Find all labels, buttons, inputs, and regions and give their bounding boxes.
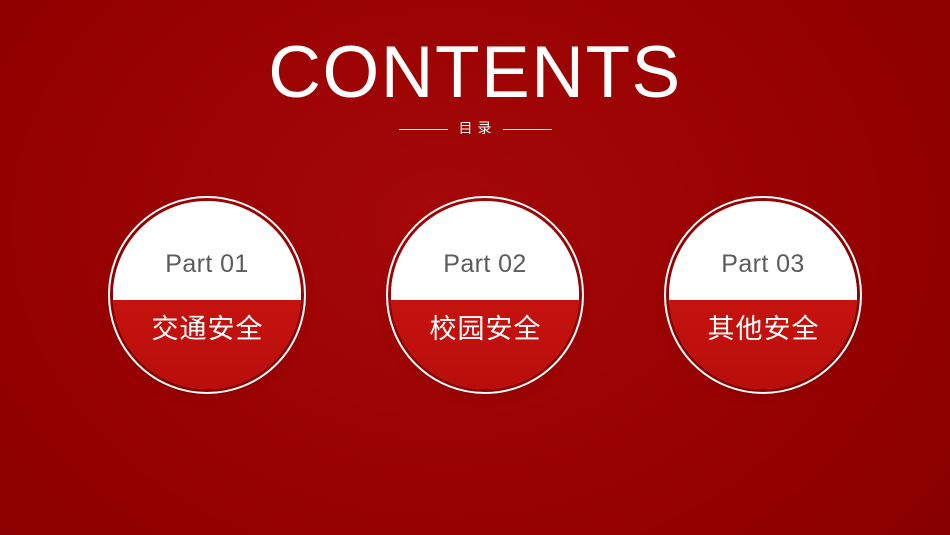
circle-disc: Part 02 校园安全 <box>391 201 579 389</box>
section-circle-row: Part 01 交通安全 Part 02 校园安全 Part 03 其他安全 <box>0 196 950 406</box>
section-part-label: Part 03 <box>669 249 857 279</box>
section-circle-2[interactable]: Part 02 校园安全 <box>386 196 584 394</box>
subtitle-group: 目录 <box>0 121 950 137</box>
section-title-label: 校园安全 <box>391 313 579 347</box>
subtitle-rule-right-icon <box>503 129 552 130</box>
circle-disc: Part 03 其他安全 <box>669 201 857 389</box>
subtitle-rule-left-icon <box>399 129 448 130</box>
section-circle-1[interactable]: Part 01 交通安全 <box>108 196 306 394</box>
section-part-label: Part 01 <box>113 249 301 279</box>
contents-slide: CONTENTS 目录 Part 01 交通安全 Part 02 <box>0 0 950 535</box>
subtitle-label: 目录 <box>454 121 497 137</box>
section-title-label: 其他安全 <box>669 313 857 347</box>
section-part-label: Part 02 <box>391 249 579 279</box>
section-circle-3[interactable]: Part 03 其他安全 <box>664 196 862 394</box>
section-title-label: 交通安全 <box>113 313 301 347</box>
page-title: CONTENTS <box>0 34 950 112</box>
slide-header: CONTENTS 目录 <box>0 34 950 137</box>
circle-disc: Part 01 交通安全 <box>113 201 301 389</box>
